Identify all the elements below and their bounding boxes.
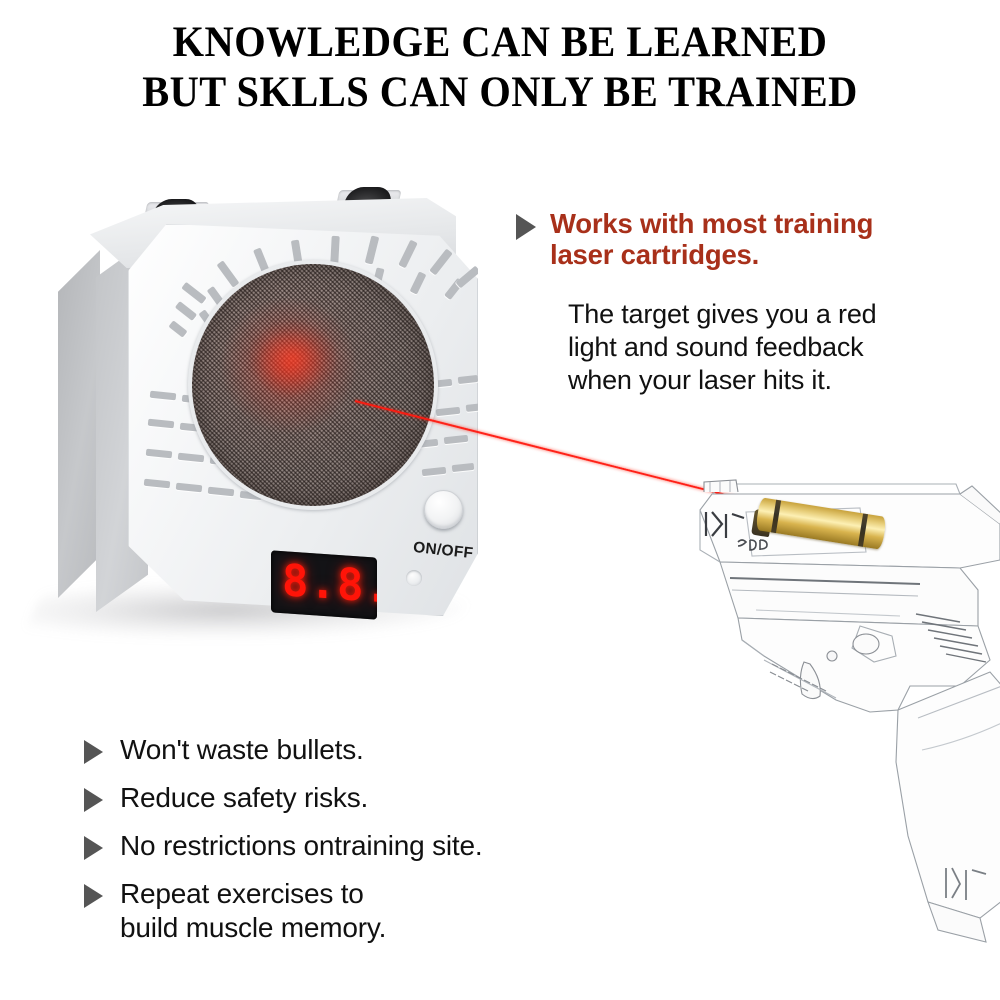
feature-body-line-1: The target gives you a red [568, 298, 1000, 331]
feature-body: The target gives you a red light and sou… [568, 298, 1000, 397]
list-item: Reduce safety risks. [84, 781, 624, 815]
laser-training-target-device: ON/OFF 8.8. [28, 182, 518, 682]
pistol-slide-markings [660, 450, 1000, 1000]
benefits-list: Won't waste bullets. Reduce safety risks… [84, 733, 624, 959]
led-display-value: 8.8. [282, 557, 377, 613]
page-title: KNOWLEDGE CAN BE LEARNED BUT SKLLS CAN O… [30, 18, 970, 118]
list-item: Repeat exercises to build muscle memory. [84, 877, 624, 945]
power-button[interactable] [424, 490, 463, 529]
feature-heading: Works with most training laser cartridge… [550, 208, 873, 270]
speaker-mesh-target[interactable] [192, 264, 434, 506]
feature-heading-row: Works with most training laser cartridge… [516, 208, 1000, 270]
pistol-illustration [660, 450, 1000, 1000]
triangle-right-icon [84, 788, 103, 812]
triangle-right-icon [516, 214, 536, 240]
benefit-text-multiline: Repeat exercises to build muscle memory. [120, 877, 386, 945]
benefit-text: Won't waste bullets. [120, 733, 364, 767]
feature-heading-line-1: Works with most training [550, 208, 873, 239]
triangle-right-icon [84, 836, 103, 860]
headline-line-1: KNOWLEDGE CAN BE LEARNED [30, 18, 970, 68]
triangle-right-icon [84, 740, 103, 764]
product-infographic: KNOWLEDGE CAN BE LEARNED BUT SKLLS CAN O… [0, 0, 1000, 1000]
headline-line-2: BUT SKLLS CAN ONLY BE TRAINED [30, 68, 970, 118]
status-led [406, 570, 422, 586]
feature-body-line-3: when your laser hits it. [568, 364, 1000, 397]
led-display: 8.8. [271, 550, 377, 619]
feature-callout: Works with most training laser cartridge… [516, 208, 1000, 397]
benefit-text: No restrictions ontraining site. [120, 829, 482, 863]
benefit-text-line-1: Repeat exercises to [120, 877, 386, 911]
list-item: No restrictions ontraining site. [84, 829, 624, 863]
device-side-panel-outer [58, 250, 100, 598]
triangle-right-icon [84, 884, 103, 908]
list-item: Won't waste bullets. [84, 733, 624, 767]
benefit-text: Reduce safety risks. [120, 781, 368, 815]
benefit-text-line-2: build muscle memory. [120, 911, 386, 945]
feature-body-line-2: light and sound feedback [568, 331, 1000, 364]
feature-heading-line-2: laser cartridges. [550, 239, 873, 270]
